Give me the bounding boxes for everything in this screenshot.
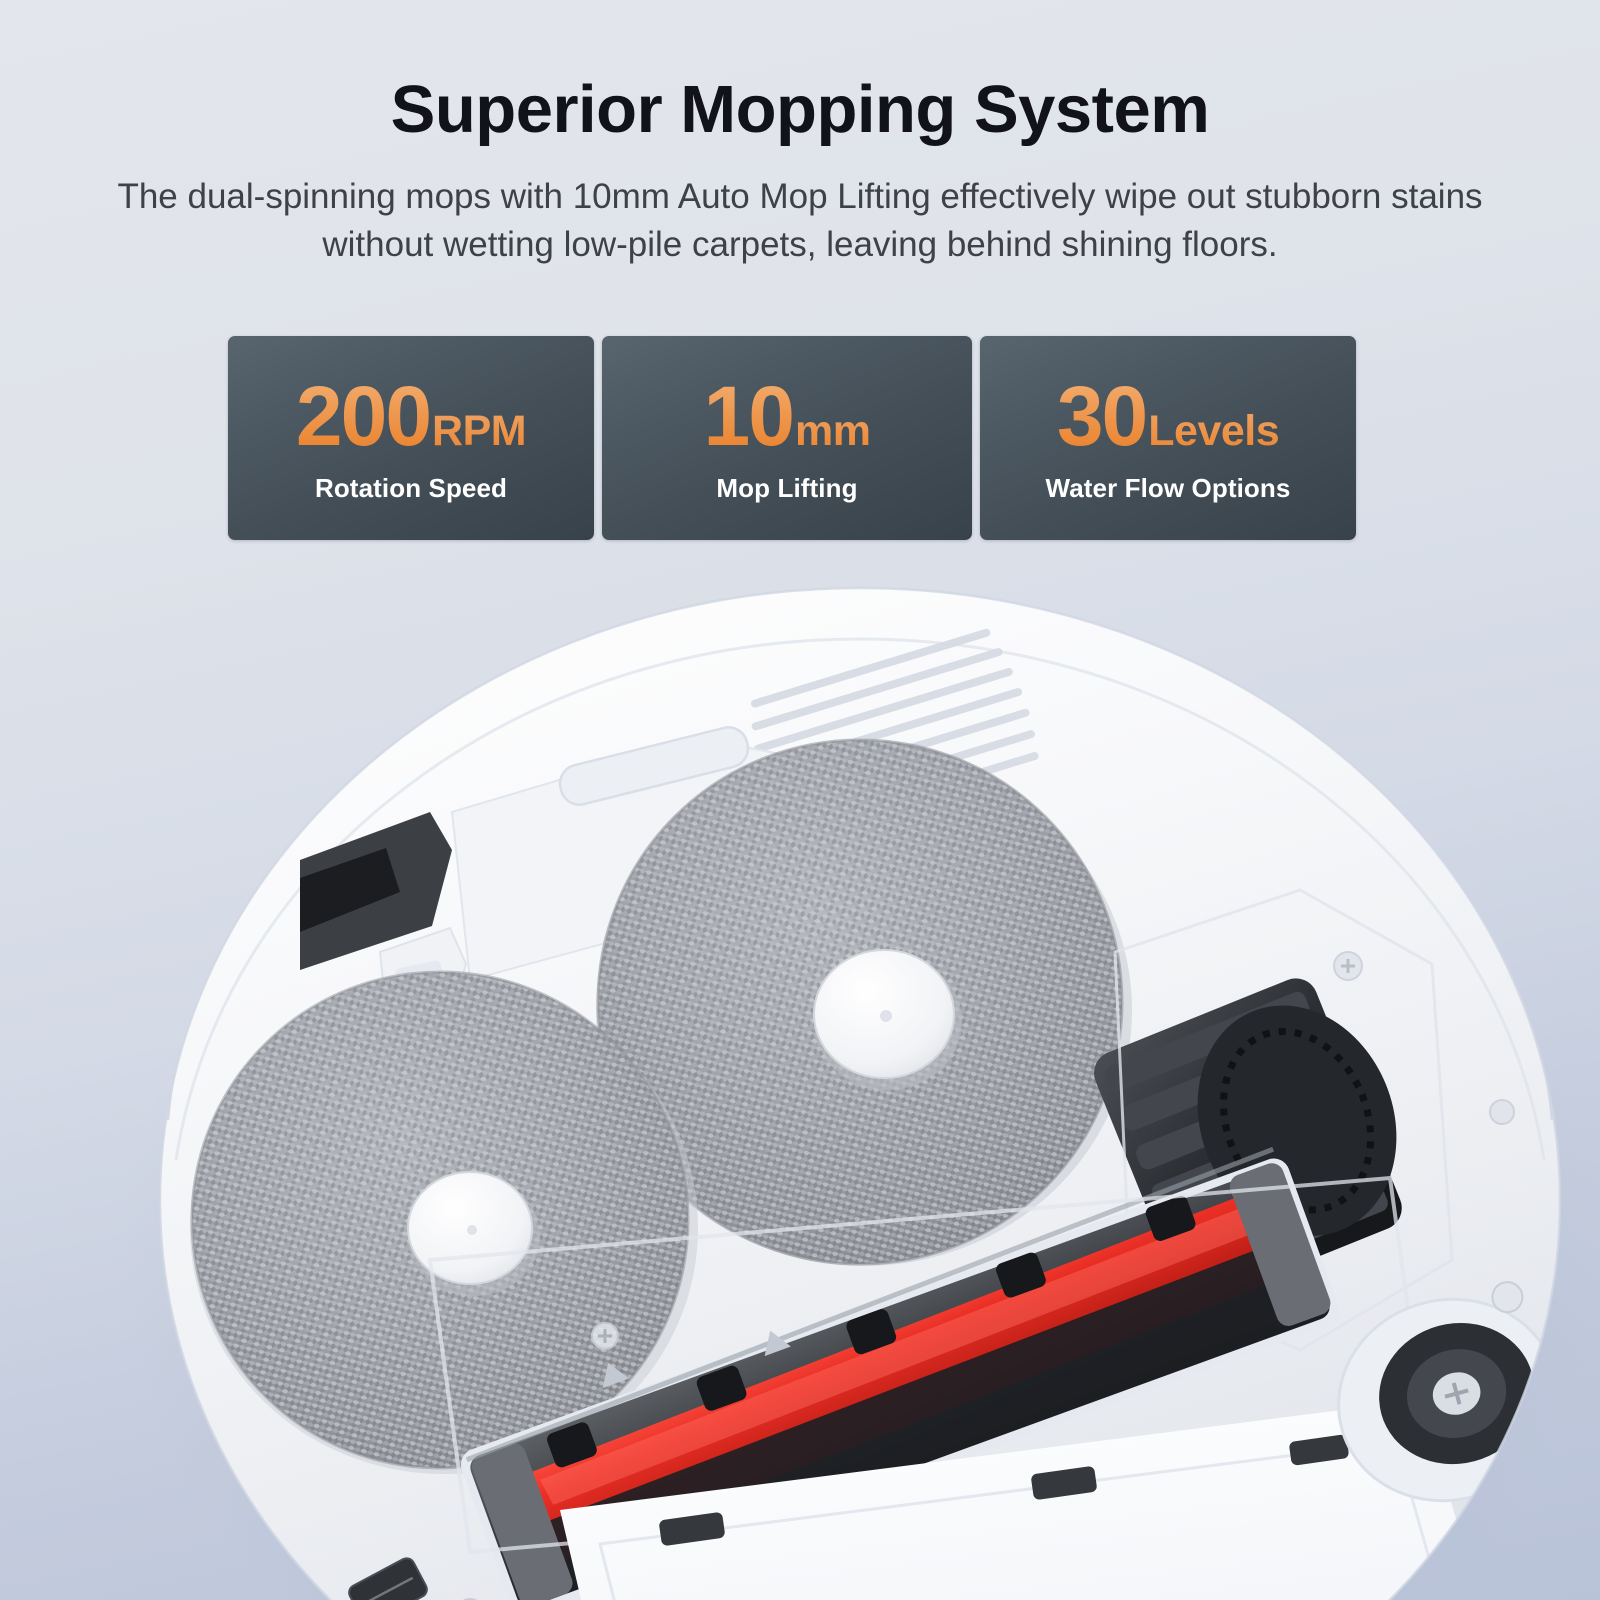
spec-value-group: 10 mm: [704, 378, 871, 455]
spec-card-rotation-speed: 200 RPM Rotation Speed: [228, 336, 594, 540]
spec-card-row: 200 RPM Rotation Speed 10 mm Mop Lifting…: [228, 336, 1356, 540]
spec-unit: mm: [795, 410, 870, 453]
spec-card-mop-lifting: 10 mm Mop Lifting: [602, 336, 972, 540]
spec-label: Mop Lifting: [716, 473, 857, 504]
chassis-screw: [592, 1323, 618, 1349]
spec-number: 200: [296, 378, 430, 455]
spec-label: Rotation Speed: [315, 473, 507, 504]
page-subtitle: The dual-spinning mops with 10mm Auto Mo…: [0, 173, 1600, 268]
spec-card-water-flow: 30 Levels Water Flow Options: [980, 336, 1356, 540]
spec-unit: RPM: [432, 410, 526, 453]
spec-number: 10: [704, 378, 793, 455]
spec-label: Water Flow Options: [1046, 473, 1291, 504]
product-image-robot-vacuum: DuoDivide: [0, 560, 1600, 1600]
header-block: Superior Mopping System The dual-spinnin…: [0, 0, 1600, 268]
spec-value-group: 200 RPM: [296, 378, 526, 455]
page-title: Superior Mopping System: [0, 76, 1600, 143]
spec-number: 30: [1057, 378, 1146, 455]
spec-unit: Levels: [1148, 410, 1279, 453]
spec-value-group: 30 Levels: [1057, 378, 1279, 455]
